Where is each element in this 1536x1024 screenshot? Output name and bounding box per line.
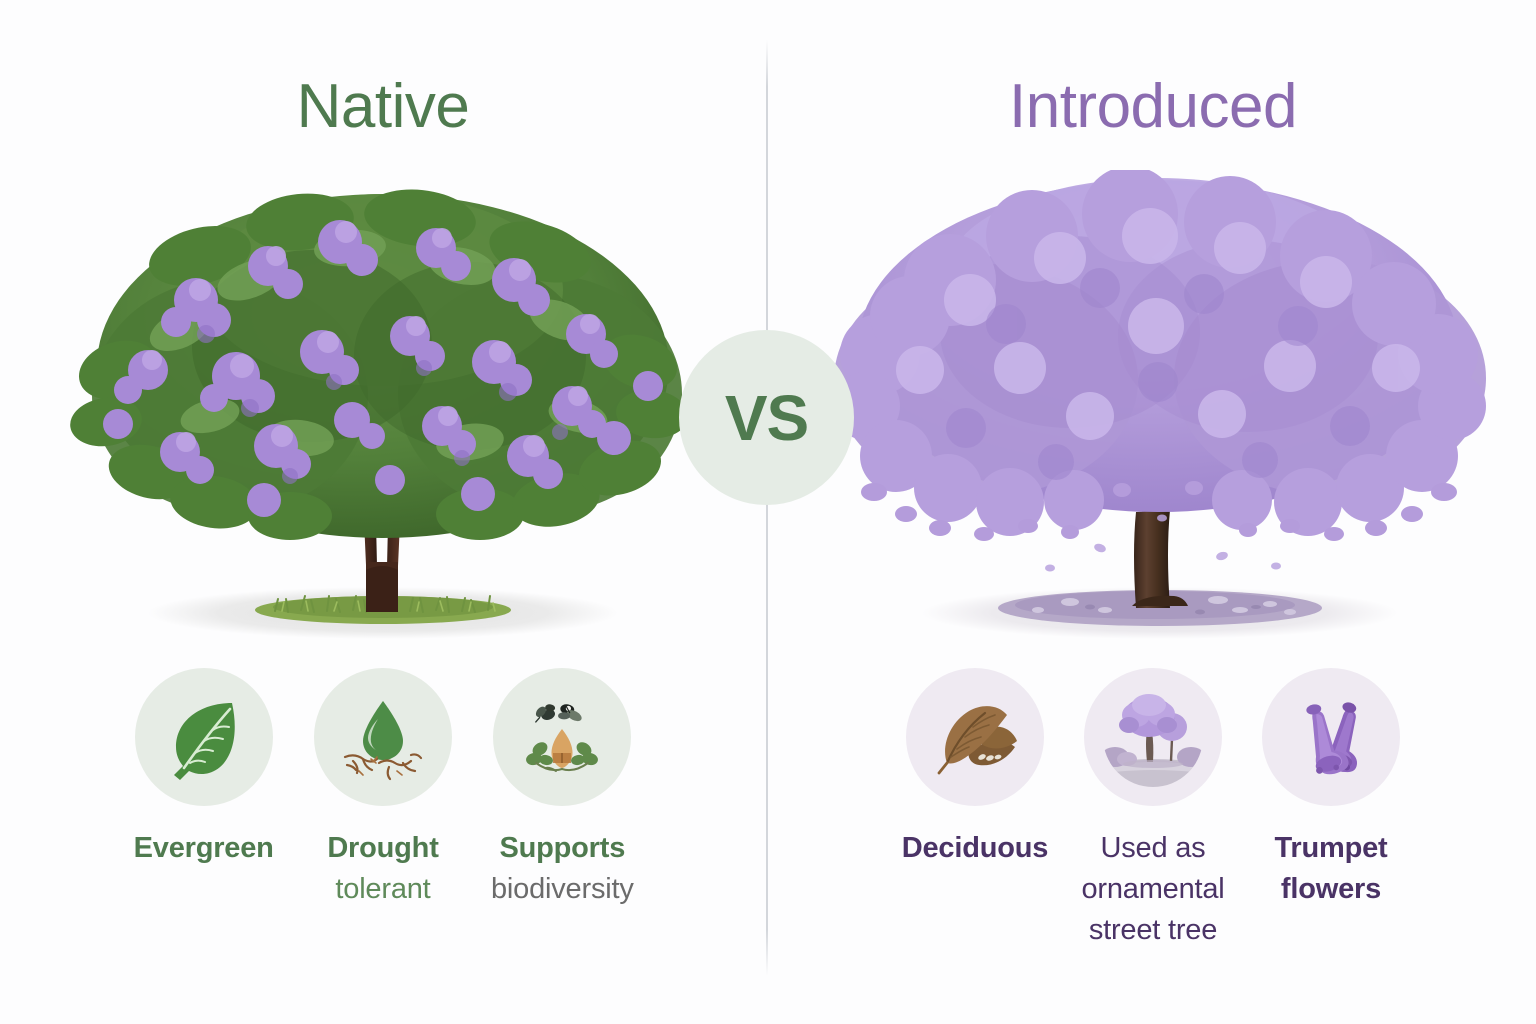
- feature-icon-circle: [906, 668, 1044, 806]
- water-drop-dry-soil-icon: [333, 687, 433, 787]
- page-title-native: Native: [0, 76, 766, 138]
- feature-icon-circle: [135, 668, 273, 806]
- feature-label: Evergreen: [134, 828, 274, 869]
- green-leaf-icon: [154, 687, 254, 787]
- label-line: biodiversity: [491, 869, 634, 910]
- feature-label: Supports biodiversity: [491, 828, 634, 910]
- label-line: flowers: [1275, 869, 1388, 910]
- panel-native: Native: [0, 0, 766, 1024]
- feature-icon-circle: [1084, 668, 1222, 806]
- feature-street-tree[interactable]: Used as ornamental street tree: [1079, 668, 1227, 952]
- label-line: Evergreen: [134, 828, 274, 869]
- panel-introduced: Introduced: [770, 0, 1536, 1024]
- label-line: tolerant: [327, 869, 438, 910]
- feature-label: Deciduous: [902, 828, 1048, 869]
- label-line: ornamental: [1081, 869, 1224, 910]
- feature-icon-circle: [314, 668, 452, 806]
- vs-badge: VS: [679, 330, 854, 505]
- label-line: Drought: [327, 828, 438, 869]
- panel-divider: [766, 40, 768, 976]
- pollinators-biodiversity-icon: [512, 687, 612, 787]
- page-title-introduced: Introduced: [770, 76, 1536, 138]
- feature-icon-circle: [1262, 668, 1400, 806]
- brown-dry-leaf-icon: [925, 687, 1025, 787]
- feature-drought-tolerant[interactable]: Drought tolerant: [309, 668, 456, 910]
- feature-trumpet-flowers[interactable]: Trumpet flowers: [1257, 668, 1405, 910]
- introduced-tree-illustration: [770, 170, 1536, 650]
- vs-label: VS: [725, 381, 808, 455]
- feature-deciduous[interactable]: Deciduous: [901, 668, 1049, 869]
- feature-icon-circle: [493, 668, 631, 806]
- feature-supports-biodiversity[interactable]: Supports biodiversity: [489, 668, 636, 910]
- introduced-tree-canopy: [832, 170, 1486, 572]
- introduced-feature-list: Deciduous: [770, 668, 1536, 952]
- label-line: Used as: [1081, 828, 1224, 869]
- label-line: Supports: [491, 828, 634, 869]
- label-line: Trumpet: [1275, 828, 1388, 869]
- label-line: street tree: [1081, 910, 1224, 951]
- trumpet-flowers-icon: [1281, 687, 1381, 787]
- label-line: Deciduous: [902, 828, 1048, 869]
- native-feature-list: Evergreen: [0, 668, 766, 910]
- feature-evergreen[interactable]: Evergreen: [130, 668, 277, 869]
- feature-label: Used as ornamental street tree: [1081, 828, 1224, 952]
- native-tree-illustration: [0, 170, 766, 650]
- feature-label: Trumpet flowers: [1275, 828, 1388, 910]
- feature-label: Drought tolerant: [327, 828, 438, 910]
- street-tree-scene-icon: [1103, 687, 1203, 787]
- infographic-canvas: Native: [0, 0, 1536, 1024]
